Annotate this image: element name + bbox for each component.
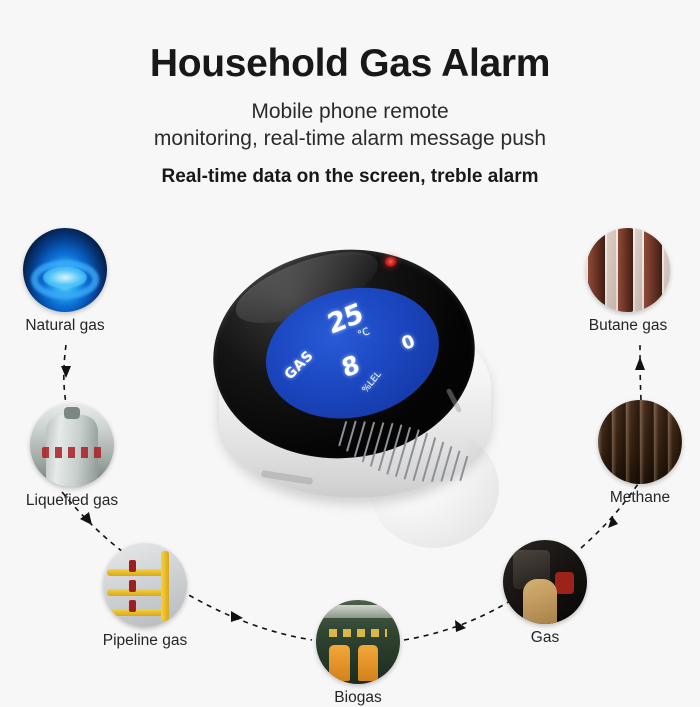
callout-butane-gas: Butane gas	[553, 228, 700, 335]
canister-column	[598, 400, 611, 484]
callout-methane-thumbnail	[598, 400, 682, 484]
callout-liquefied-gas-label: Liquefied gas	[0, 492, 147, 510]
vent-slat	[459, 456, 468, 482]
vent-slat	[338, 421, 347, 447]
butane-canister-icon	[586, 228, 670, 312]
pipe-horizontal	[107, 589, 169, 596]
canister-column	[635, 228, 642, 312]
callout-natural-gas: Natural gas	[0, 228, 140, 335]
lcd-gas-label: GAS	[282, 348, 317, 383]
product-infographic: Household Gas Alarm Mobile phone remote …	[0, 0, 700, 700]
arrowhead-3	[231, 611, 243, 622]
arrowhead-2	[80, 512, 92, 525]
callout-liquefied-gas-thumbnail	[30, 403, 114, 487]
worker-figure	[523, 579, 557, 624]
arrowhead-6	[635, 357, 645, 370]
flame-ring	[31, 260, 98, 299]
gas-pipeline-icon	[103, 543, 187, 627]
callout-biogas-thumbnail	[316, 600, 400, 684]
biogas-tank-left	[329, 645, 349, 680]
alarm-led-indicator	[384, 256, 397, 267]
vent-slat	[450, 451, 461, 482]
canister-column	[654, 400, 667, 484]
pipe-valve	[129, 580, 136, 592]
lpg-cap	[64, 407, 81, 419]
canister-column	[626, 400, 639, 484]
callout-liquefied-gas: Liquefied gas	[0, 403, 147, 510]
callout-pipeline-gas-thumbnail	[103, 543, 187, 627]
callout-gas: Gas	[470, 540, 620, 647]
burner-flame-icon	[23, 228, 107, 312]
biogas-plant-icon	[316, 600, 400, 684]
canister-column	[618, 228, 633, 312]
callout-natural-gas-label: Natural gas	[0, 317, 140, 335]
arrowhead-4	[455, 620, 466, 632]
callout-methane-label: Methane	[565, 489, 700, 507]
lcd-status-indicator: 0	[399, 331, 418, 355]
pipe-riser	[161, 551, 169, 621]
pipe-horizontal	[107, 609, 169, 616]
callout-biogas-label: Biogas	[283, 689, 433, 707]
lpg-cylinder-icon	[30, 403, 114, 487]
biogas-signage	[329, 629, 386, 637]
lcd-temperature-unit: °C	[356, 326, 371, 341]
lcd-concentration-unit: %LEL	[361, 370, 384, 395]
arrowhead-1	[61, 366, 71, 378]
canister-column	[612, 400, 625, 484]
canister-column	[664, 228, 670, 312]
canister-column	[644, 228, 662, 312]
methane-canister-icon	[598, 400, 682, 484]
arrowhead-5	[608, 516, 618, 528]
canister-column	[588, 228, 605, 312]
lcd-concentration-value: 8	[338, 349, 363, 383]
callout-gas-label: Gas	[470, 629, 620, 647]
canister-column	[668, 400, 681, 484]
callout-butane-gas-label: Butane gas	[553, 317, 700, 335]
biogas-tank-right	[358, 645, 378, 680]
canister-column	[607, 228, 616, 312]
callout-biogas: Biogas	[283, 600, 433, 707]
pipe-horizontal	[107, 569, 169, 576]
lpg-chinese-text	[42, 447, 102, 458]
vent-slat	[346, 421, 357, 452]
callout-natural-gas-thumbnail	[23, 228, 107, 312]
callout-methane: Methane	[565, 400, 700, 507]
callout-pipeline-gas-label: Pipeline gas	[70, 632, 220, 650]
canister-column	[640, 400, 653, 484]
callout-butane-gas-thumbnail	[586, 228, 670, 312]
biogas-roof	[316, 605, 400, 618]
pipe-valve	[129, 600, 136, 612]
gas-worker-icon	[503, 540, 587, 624]
pipe-valve	[129, 560, 136, 572]
gas-alarm-device: 25 °C GAS 8 %LEL 0	[205, 248, 505, 528]
callout-pipeline-gas: Pipeline gas	[70, 543, 220, 650]
worker-red-element	[555, 572, 573, 594]
callout-gas-thumbnail	[503, 540, 587, 624]
